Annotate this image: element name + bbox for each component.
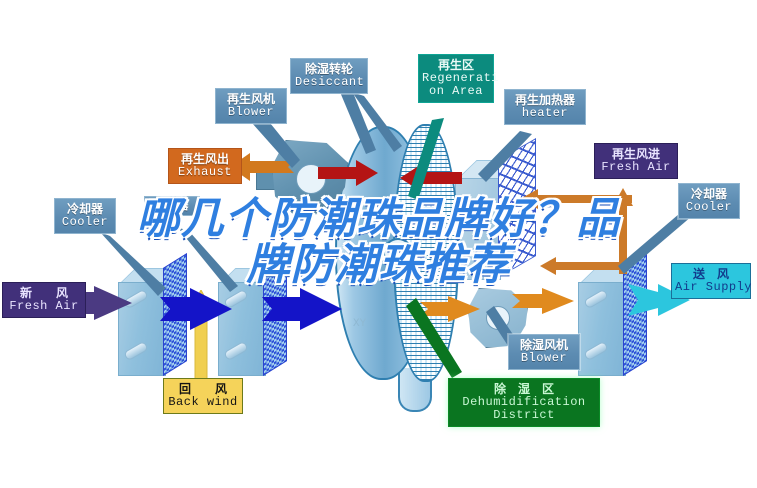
label-en: Cooler [682,201,736,214]
label-cn: 再生区 [422,59,490,72]
label-en: Fresh Air [6,300,82,313]
label-cn: 再生加热器 [508,94,582,107]
label-en: Desiccant [295,76,363,89]
label-en: Regenerati [422,72,490,85]
label-en: Air Supply [675,281,747,294]
label-regeneration-fresh-air-inlet: 再生风进 Fresh Air [594,143,678,179]
label-cn: 除 湿 区 [453,383,595,396]
label-cooler-middle: 冷却器 [144,196,200,216]
label-dehumidification-district: 除 湿 区 Dehumidification District [448,378,600,427]
label-cn: 冷却器 [682,188,736,201]
label-en: Cooler [58,216,112,229]
label-en: Back wind [167,396,239,409]
label-cn: 再生风机 [220,93,282,106]
label-cooler-right: 冷却器 Cooler [678,183,740,219]
label-cn: 再生风出 [172,153,238,166]
label-cn: 冷却器 [58,203,112,216]
label-cn: 送 风 [675,268,747,281]
dehumidifier-process-diagram: XY [0,0,757,488]
label-en: Fresh Air [598,161,674,174]
label-en: heater [508,107,582,120]
label-cn: 除湿转轮 [295,63,363,76]
label-en: Blower [220,106,282,119]
leader-lines [0,0,757,488]
label-dehumidification-blower: 除湿风机 Blower [508,334,580,370]
label-regeneration-area: 再生区 Regenerati on Area [418,54,494,103]
label-air-supply: 送 风 Air Supply [671,263,751,299]
label-regeneration-heater: 再生加热器 heater [504,89,586,125]
label-cn: 除湿风机 [512,339,576,352]
label-regeneration-blower: 再生风机 Blower [215,88,287,124]
label-en: Exhaust [172,166,238,179]
label-back-wind: 回 风 Back wind [163,378,243,414]
label-en-2: on Area [422,85,490,98]
label-exhaust: 再生风出 Exhaust [168,148,242,184]
label-cooler-left: 冷却器 Cooler [54,198,116,234]
label-en: Blower [512,352,576,365]
label-cn: 再生风进 [598,148,674,161]
label-cn: 冷却器 [148,200,196,212]
label-en-2: District [453,409,595,422]
label-en: Dehumidification [453,396,595,409]
label-cn: 新 风 [6,287,82,300]
label-fresh-air-inlet: 新 风 Fresh Air [2,282,86,318]
label-cn: 回 风 [167,383,239,396]
label-desiccant-wheel: 除湿转轮 Desiccant [290,58,368,94]
